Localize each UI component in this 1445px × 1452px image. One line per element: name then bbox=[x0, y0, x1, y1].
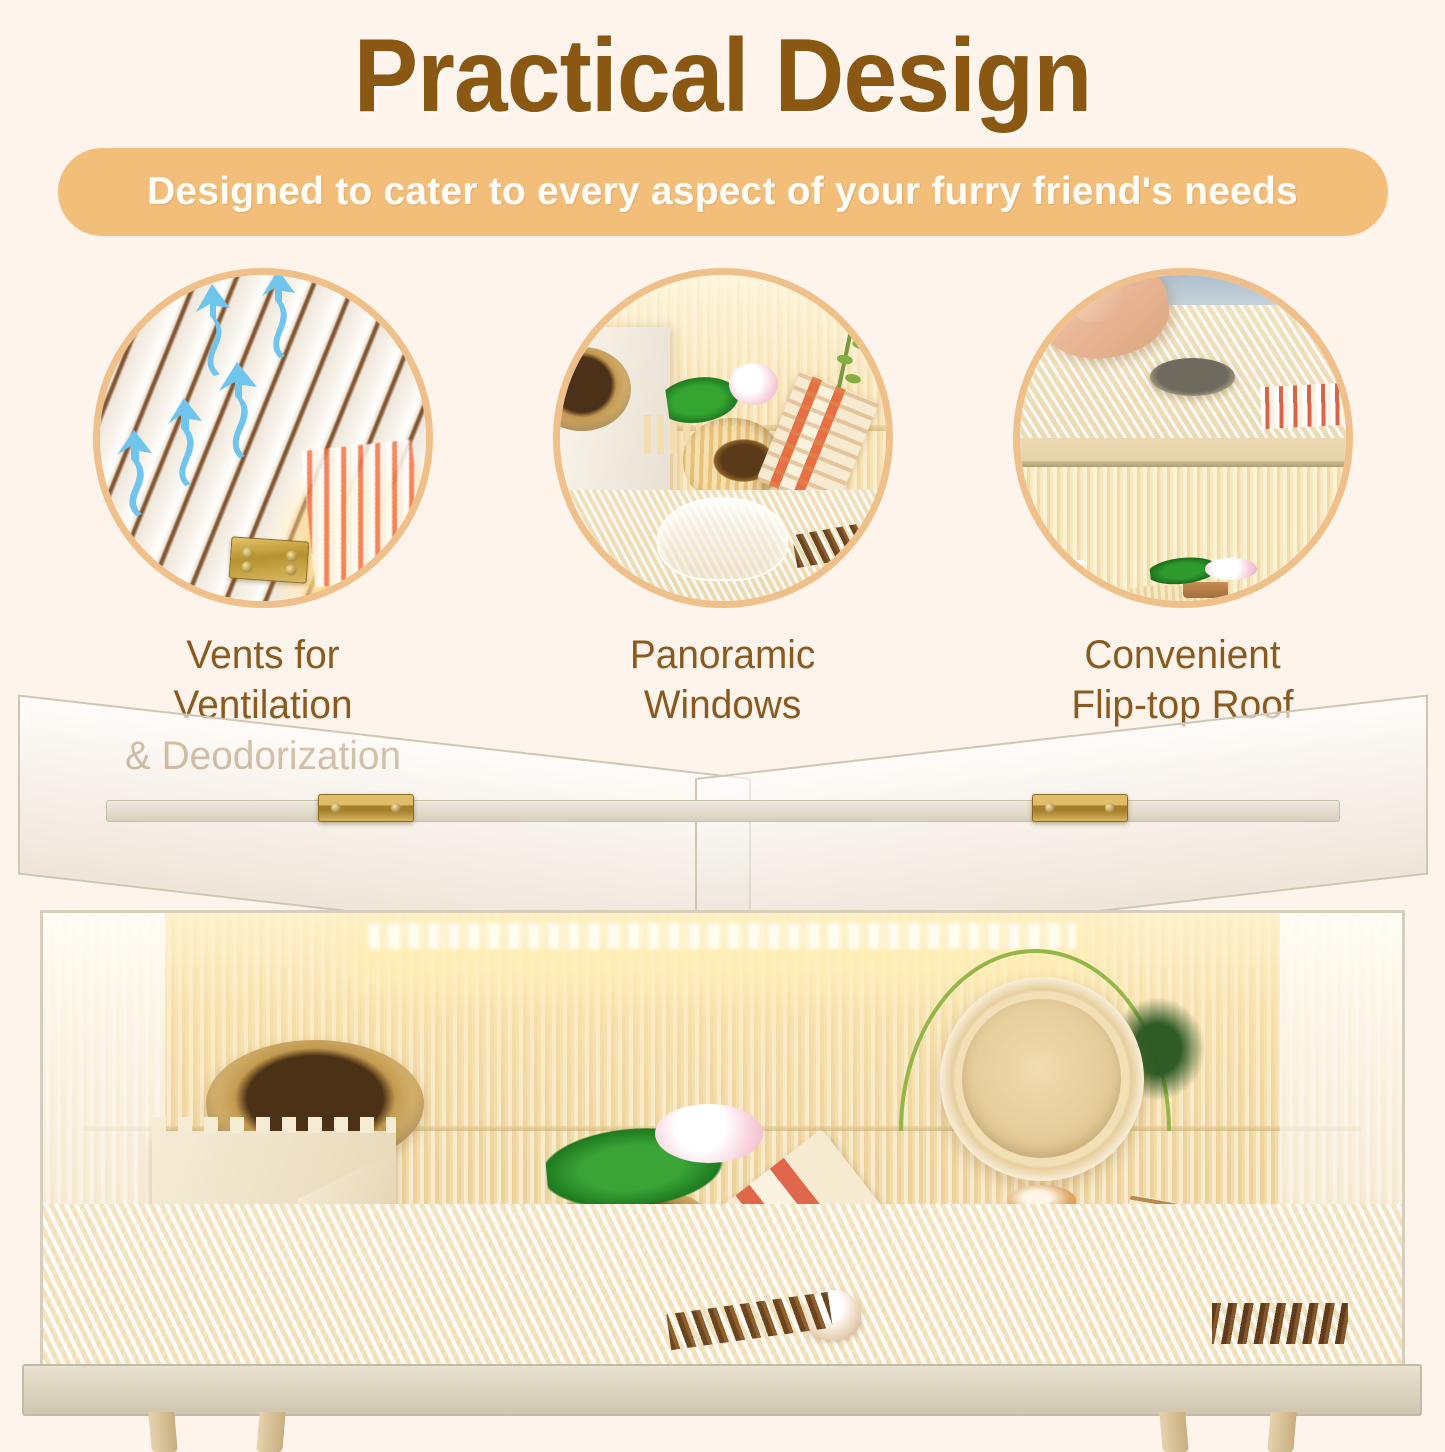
glass-enclosure bbox=[40, 910, 1405, 1370]
roof-ridge bbox=[106, 800, 1340, 822]
fliptop-photo bbox=[1020, 275, 1346, 601]
lower-compartment bbox=[1020, 467, 1346, 601]
page-title: Practical Design bbox=[51, 0, 1395, 128]
pink-rose bbox=[655, 1104, 764, 1163]
chew-sticks bbox=[1212, 1303, 1348, 1344]
brass-hinge-icon bbox=[318, 794, 414, 822]
cage-leg bbox=[148, 1412, 177, 1452]
burrow-hole bbox=[1150, 358, 1235, 396]
airflow-arrow-icon bbox=[158, 396, 210, 488]
cage-leg bbox=[1267, 1412, 1296, 1452]
airflow-arrow-icon bbox=[106, 428, 162, 518]
feature-image-ventilation bbox=[93, 268, 433, 608]
feature-image-panoramic-windows bbox=[553, 268, 893, 608]
clear-sand-bath-dome bbox=[657, 497, 787, 582]
feature-panoramic-windows: Panoramic Windows bbox=[553, 268, 893, 781]
pink-flower-lower bbox=[1205, 558, 1257, 579]
vent-photo bbox=[100, 275, 426, 601]
white-ladder bbox=[1026, 558, 1085, 593]
feature-ventilation: Vents for Ventilation & Deodorization bbox=[93, 268, 433, 781]
airflow-arrow-icon bbox=[253, 268, 303, 360]
exercise-wheel bbox=[940, 977, 1144, 1181]
airflow-arrow-icon bbox=[207, 360, 267, 460]
subtitle-banner-wrap: Designed to cater to every aspect of you… bbox=[0, 148, 1445, 236]
feature-flip-top-roof: Convenient Flip-top Roof bbox=[1013, 268, 1353, 781]
upper-compartment bbox=[1020, 275, 1346, 464]
brass-hinge-icon bbox=[1032, 794, 1128, 822]
feature-caption-panoramic-windows: Panoramic Windows bbox=[630, 630, 815, 731]
pink-flower bbox=[729, 363, 778, 405]
striped-ladder-upper bbox=[1260, 382, 1346, 428]
panoramic-photo bbox=[560, 275, 886, 601]
led-strip-light bbox=[369, 923, 1076, 949]
subtitle-banner: Designed to cater to every aspect of you… bbox=[58, 148, 1388, 236]
brass-hinge-icon bbox=[229, 536, 310, 584]
cage-base-frame bbox=[22, 1364, 1422, 1416]
feature-row: Vents for Ventilation & Deodorization bbox=[0, 268, 1445, 781]
cage-leg bbox=[1159, 1412, 1188, 1452]
feature-image-flip-top-roof bbox=[1013, 268, 1353, 608]
striped-ladder-glimpse bbox=[301, 439, 426, 587]
product-photo bbox=[0, 760, 1445, 1445]
cage-leg bbox=[256, 1412, 285, 1452]
